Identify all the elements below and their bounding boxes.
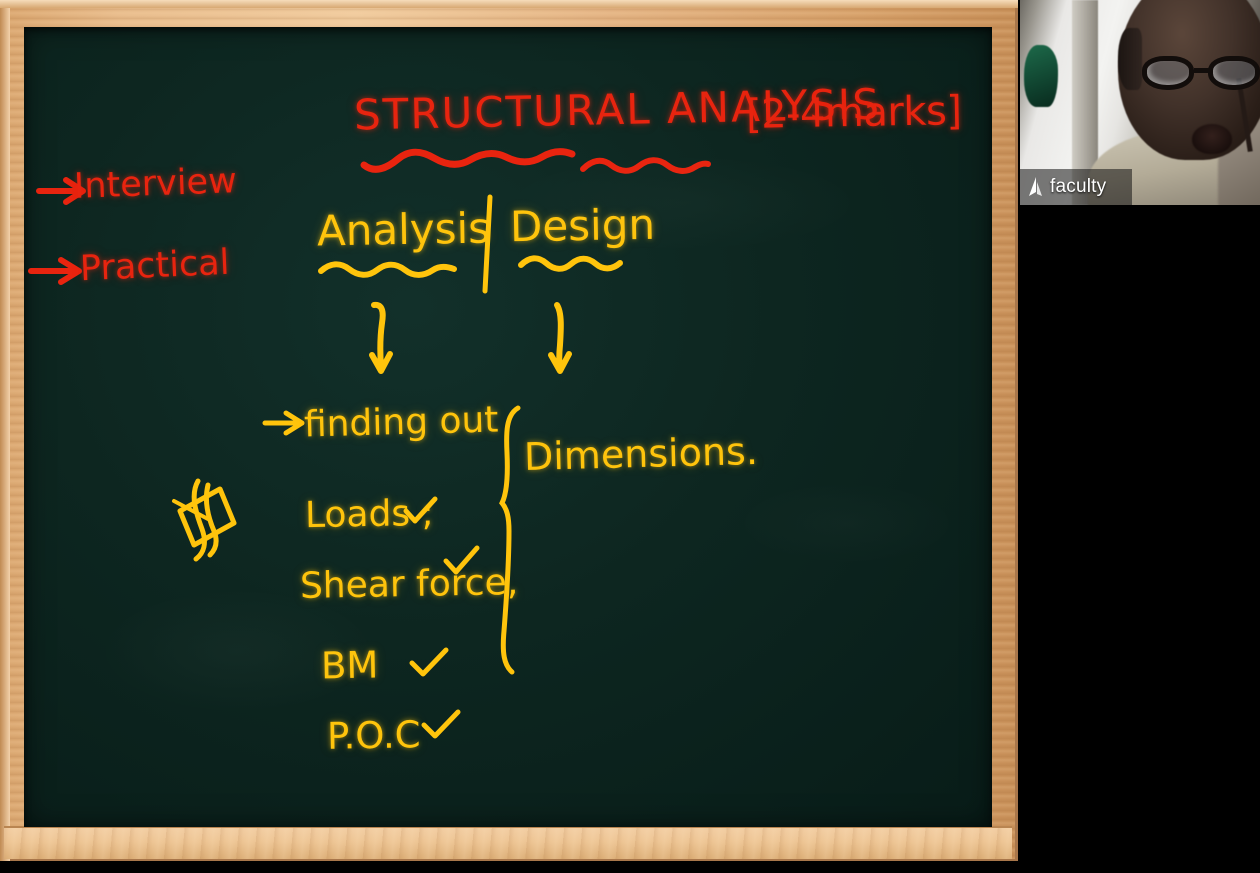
frame-bevel-left	[0, 0, 10, 861]
frame-bevel-top	[0, 0, 1018, 8]
chalkboard-surface: STRUCTURAL ANALYSIS [2-4marks] Interview…	[24, 27, 992, 827]
list-item-poc: P.O.C	[327, 716, 421, 755]
eyeglasses-bridge	[1194, 68, 1210, 73]
blackboard-region: STRUCTURAL ANALYSIS [2-4marks] Interview…	[0, 0, 1020, 873]
list-lead-finding-out: finding out	[304, 402, 499, 443]
title-underline-analysis	[580, 151, 710, 183]
webcam-video-tile[interactable]: faculty	[1020, 0, 1260, 205]
heading-design-underline	[518, 249, 628, 279]
list-item-shear-force: Shear force,	[300, 565, 519, 605]
crossed-out-parallelogram-sketch	[152, 455, 252, 565]
eyeglasses-right-lens	[1208, 56, 1260, 90]
board-title-marks: [2-4marks]	[746, 91, 962, 135]
list-item-loads: Loads ;	[305, 496, 434, 534]
eyeglasses-icon	[1142, 56, 1260, 90]
empty-black-pane-right	[1020, 205, 1260, 873]
webcam-participant-name: faculty	[1050, 176, 1106, 198]
webcam-person-mouth	[1192, 124, 1232, 154]
list-item-bm: BM	[321, 647, 379, 685]
note-practical: Practical	[79, 246, 230, 287]
heading-analysis: Analysis	[317, 207, 491, 252]
webcam-background-object	[1024, 45, 1058, 107]
note-interview: Interview	[73, 164, 237, 205]
result-dimensions: Dimensions.	[524, 432, 759, 476]
check-icon-poc	[420, 709, 466, 741]
arrow-down-icon-analysis	[360, 301, 400, 379]
title-underline-structural	[360, 139, 580, 175]
triangle-logo-icon	[1026, 176, 1045, 198]
arrow-down-icon-design	[540, 301, 580, 379]
check-icon-bm	[408, 647, 454, 679]
empty-black-pane-bottom	[0, 861, 1020, 873]
headset-icon	[1118, 28, 1142, 90]
heading-analysis-underline	[318, 255, 458, 285]
eyeglasses-left-lens	[1142, 56, 1194, 90]
chalk-tray-ledge	[4, 826, 1012, 859]
webcam-participant-label: faculty	[1020, 169, 1132, 205]
screen-root: STRUCTURAL ANALYSIS [2-4marks] Interview…	[0, 0, 1260, 873]
heading-design: Design	[510, 204, 656, 249]
